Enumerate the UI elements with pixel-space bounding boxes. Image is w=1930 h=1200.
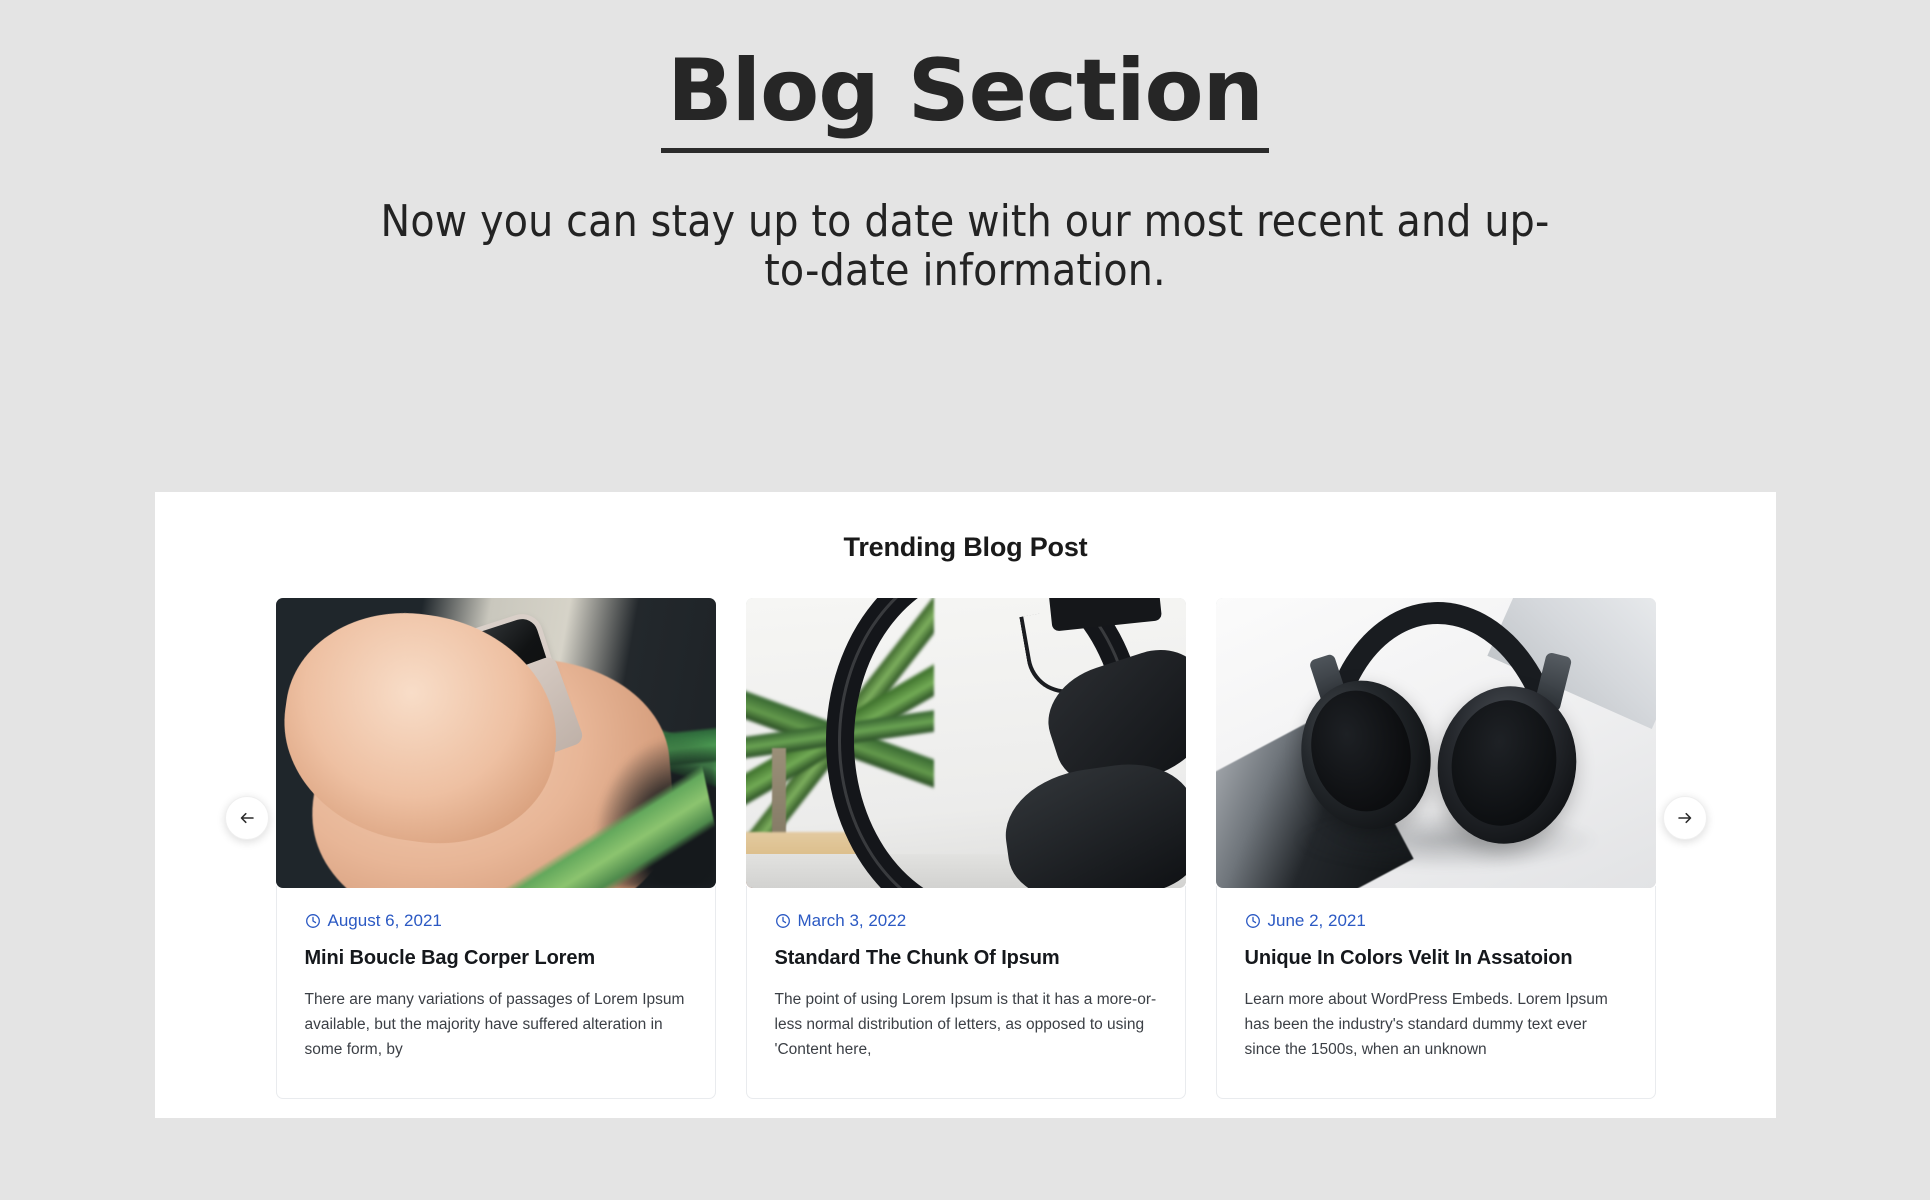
blog-carousel: August 6, 2021 Mini Boucle Bag Corper Lo… — [276, 563, 1656, 1099]
blog-card-image[interactable] — [746, 598, 1186, 888]
blog-card-date: June 2, 2021 — [1245, 912, 1627, 929]
blog-card[interactable]: August 6, 2021 Mini Boucle Bag Corper Lo… — [276, 598, 716, 1099]
trending-panel: Trending Blog Post — [155, 492, 1776, 1118]
blog-card-excerpt: Learn more about WordPress Embeds. Lorem… — [1245, 987, 1627, 1062]
blog-card-body: March 3, 2022 Standard The Chunk Of Ipsu… — [746, 886, 1186, 1099]
card-list: August 6, 2021 Mini Boucle Bag Corper Lo… — [276, 598, 1656, 1099]
blog-card-date-text: August 6, 2021 — [328, 912, 442, 929]
blog-card[interactable]: June 2, 2021 Unique In Colors Velit In A… — [1216, 598, 1656, 1099]
blog-card-excerpt: The point of using Lorem Ipsum is that i… — [775, 987, 1157, 1062]
blog-card-date-text: March 3, 2022 — [798, 912, 907, 929]
page-title: Blog Section — [661, 48, 1269, 153]
page-subtitle: Now you can stay up to date with our mos… — [365, 197, 1565, 296]
blog-card-date-text: June 2, 2021 — [1268, 912, 1366, 929]
blog-card-excerpt: There are many variations of passages of… — [305, 987, 687, 1062]
panel-title: Trending Blog Post — [155, 492, 1776, 563]
clock-icon — [775, 913, 791, 929]
blog-card-image[interactable] — [276, 598, 716, 888]
blog-card-date: March 3, 2022 — [775, 912, 1157, 929]
hero-header: Blog Section Now you can stay up to date… — [0, 0, 1930, 296]
arrow-left-icon — [237, 808, 257, 828]
blog-card-title[interactable]: Unique In Colors Velit In Assatoion — [1245, 946, 1627, 971]
blog-section-page: Blog Section Now you can stay up to date… — [0, 0, 1930, 1200]
carousel-prev-button[interactable] — [225, 796, 269, 840]
black-over-ear-headphones-on-desk-photo — [1216, 598, 1656, 888]
blog-card-title[interactable]: Mini Boucle Bag Corper Lorem — [305, 946, 687, 971]
blog-card-title[interactable]: Standard The Chunk Of Ipsum — [775, 946, 1157, 971]
arrow-right-icon — [1675, 808, 1695, 828]
blog-card-date: August 6, 2021 — [305, 912, 687, 929]
hands-adjusting-smartwatch-photo — [276, 598, 716, 888]
clock-icon — [305, 913, 321, 929]
clock-icon — [1245, 913, 1261, 929]
black-headphones-with-plant-photo — [746, 598, 1186, 888]
carousel-next-button[interactable] — [1663, 796, 1707, 840]
blog-card-body: June 2, 2021 Unique In Colors Velit In A… — [1216, 886, 1656, 1099]
blog-card-body: August 6, 2021 Mini Boucle Bag Corper Lo… — [276, 886, 716, 1099]
blog-card-image[interactable] — [1216, 598, 1656, 888]
blog-card[interactable]: March 3, 2022 Standard The Chunk Of Ipsu… — [746, 598, 1186, 1099]
